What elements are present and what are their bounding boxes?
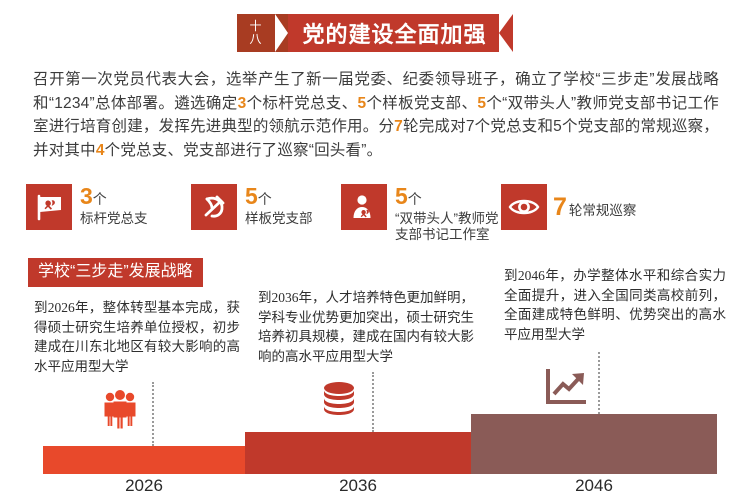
people-group-icon: [98, 388, 142, 437]
stat-number-2: 5: [245, 183, 258, 209]
step-bar-2036: [245, 432, 471, 474]
eye-inspection-icon: [501, 184, 547, 230]
step-year-2046: 2046: [471, 476, 717, 496]
step-bar-2046: [471, 414, 717, 474]
para-number-2: 5: [357, 95, 366, 112]
party-member-icon: [341, 184, 387, 230]
stat-unit-1: 个: [93, 191, 107, 207]
para-seg-6: 个党总支、党支部进行了巡察“回头看”。: [105, 142, 383, 159]
stats-row: 3个 标杆党总支 5个 样板党支部: [26, 184, 726, 246]
para-number-4: 7: [394, 118, 403, 135]
strategy-label: 学校“三步走”发展战略: [28, 258, 203, 287]
stat-label-1: 标杆党总支: [80, 211, 148, 227]
growth-chart-icon: [544, 368, 590, 415]
stat-number-1: 3: [80, 183, 93, 209]
stat-item-benchmark-branch: 3个 标杆党总支: [26, 184, 148, 230]
stat-label-2: 样板党支部: [245, 211, 313, 227]
stat-unit-3: 个: [408, 191, 422, 207]
para-number-3: 5: [477, 95, 486, 112]
banner-title: 党的建设全面加强: [288, 14, 512, 52]
hammer-sickle-icon: [191, 184, 237, 230]
banner-tab-bottom-char: 八: [249, 33, 261, 46]
para-number-5: 4: [96, 142, 105, 159]
stat-number-3: 5: [395, 183, 408, 209]
stat-label-3-line2: 支部书记工作室: [395, 227, 499, 243]
step-description-2026: 到2026年，整体转型基本完成，获得硕士研究生培养单位授权，初步建成在川东北地区…: [34, 298, 240, 376]
stat-unit-2: 个: [258, 191, 272, 207]
step-year-2026: 2026: [43, 476, 245, 496]
step-year-2036: 2036: [245, 476, 471, 496]
stat-label-4: 轮常规巡察: [569, 199, 637, 219]
step-description-2046: 到2046年，办学整体水平和综合实力全面提升，进入全国同类高校前列，全面建成特色…: [504, 266, 726, 344]
stat-label-3-line1: “双带头人”教师党: [395, 211, 499, 227]
stat-item-teacher-studio: 5个 “双带头人”教师党 支部书记工作室: [341, 184, 499, 243]
step-description-2036: 到2036年，人才培养特色更加鲜明，学科专业优势更加突出，硕士研究生培养初具规模…: [258, 288, 474, 366]
connector-line-2026: [152, 382, 154, 446]
para-seg-3: 个样板党支部、: [366, 95, 477, 112]
step-bar-2026: [43, 446, 245, 474]
stat-item-inspection-rounds: 7 轮常规巡察: [501, 184, 636, 230]
intro-paragraph: 召开第一次党员代表大会，选举产生了新一届党委、纪委领导班子，确立了学校“三步走”…: [33, 68, 719, 162]
para-seg-2: 个标杆党总支、: [246, 95, 357, 112]
connector-line-2036: [372, 372, 374, 432]
party-flag-icon: [26, 184, 72, 230]
stat-item-model-branch: 5个 样板党支部: [191, 184, 313, 230]
banner-chapter-tab: 十 八: [237, 14, 275, 52]
title-banner: 十 八 党的建设全面加强: [0, 14, 750, 52]
coin-stack-icon: [318, 378, 360, 425]
banner-chevron-divider: [275, 14, 288, 52]
connector-line-2046: [598, 352, 600, 414]
stat-number-4: 7: [553, 195, 567, 219]
